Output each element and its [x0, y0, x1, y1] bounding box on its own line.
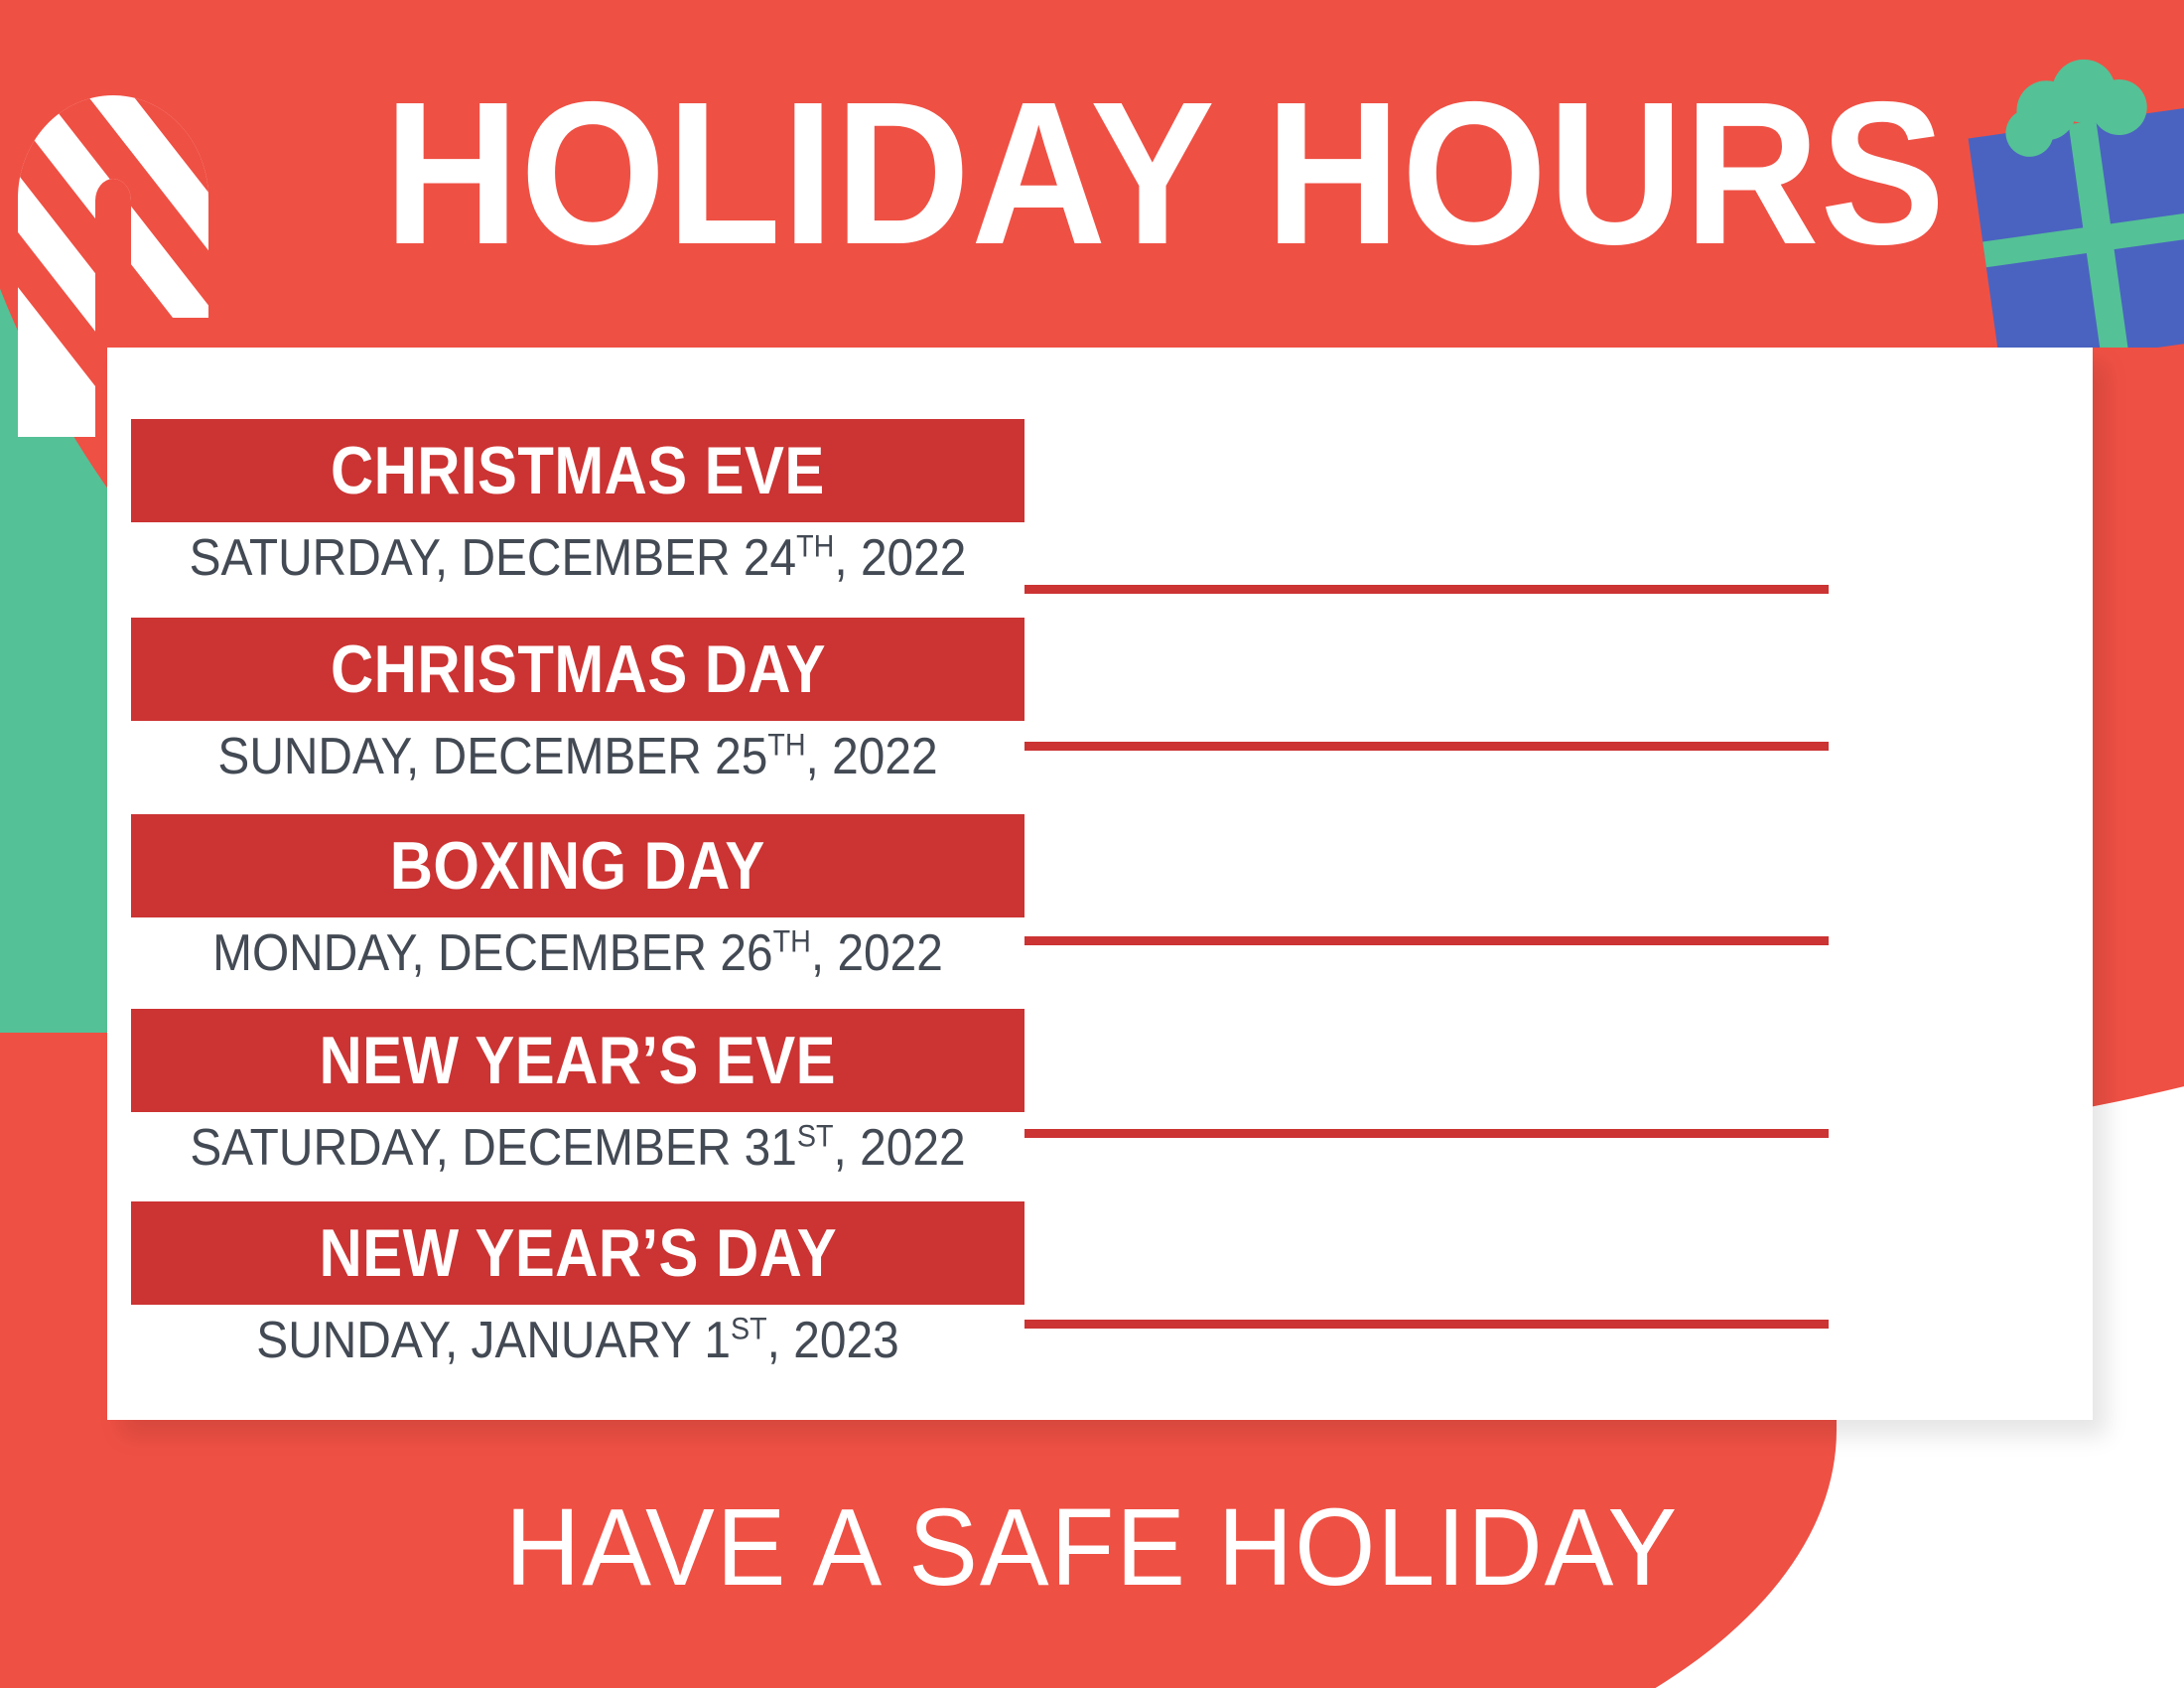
holiday-date-year: 2022	[861, 529, 966, 587]
holiday-date-year: 2023	[793, 1312, 898, 1369]
hours-list: CHRISTMAS EVE SATURDAY, DECEMBER 24TH, 2…	[131, 348, 2093, 1370]
holiday-date-day: 31	[745, 1119, 797, 1177]
page-title: HOLIDAY HOURS	[87, 71, 2097, 275]
holiday-date-weekday: SUNDAY,	[256, 1312, 458, 1369]
list-item: NEW YEAR’S EVE SATURDAY, DECEMBER 31ST, …	[131, 1009, 2093, 1178]
holiday-date-year: 2022	[837, 924, 942, 982]
hours-rule-line	[1024, 742, 1829, 751]
list-item: CHRISTMAS DAY SUNDAY, DECEMBER 25TH, 202…	[131, 618, 2093, 786]
holiday-date-weekday: MONDAY,	[212, 924, 425, 982]
hours-rule-line	[1024, 585, 1829, 594]
holiday-date: MONDAY, DECEMBER 26TH, 2022	[167, 923, 989, 983]
holiday-hours-poster: HOLIDAY HOURS CHRISTMAS EVE SATURDAY, DE…	[0, 0, 2184, 1688]
holiday-date-month: DECEMBER	[438, 924, 707, 982]
hours-rule-line	[1024, 1320, 1829, 1329]
holiday-date-weekday: SUNDAY,	[217, 728, 419, 785]
holiday-label: NEW YEAR’S DAY	[319, 1214, 837, 1292]
holiday-date-month: DECEMBER	[461, 529, 730, 587]
holiday-date-month: DECEMBER	[462, 1119, 731, 1177]
holiday-label-bar: NEW YEAR’S EVE	[131, 1009, 1024, 1112]
holiday-date-day: 26	[720, 924, 772, 982]
holiday-date: SUNDAY, JANUARY 1ST, 2023	[167, 1311, 989, 1370]
holiday-date-day: 24	[744, 529, 796, 587]
holiday-date-ordinal: TH	[767, 728, 805, 763]
list-item: CHRISTMAS EVE SATURDAY, DECEMBER 24TH, 2…	[131, 419, 2093, 588]
holiday-date: SATURDAY, DECEMBER 31ST, 2022	[167, 1118, 989, 1178]
holiday-date: SATURDAY, DECEMBER 24TH, 2022	[167, 528, 989, 588]
holiday-label-bar: CHRISTMAS DAY	[131, 618, 1024, 721]
holiday-date-day: 25	[715, 728, 767, 785]
holiday-date-ordinal: TH	[796, 529, 834, 564]
holiday-date-ordinal: ST	[731, 1312, 767, 1346]
hours-rule-line	[1024, 936, 1829, 945]
list-item: BOXING DAY MONDAY, DECEMBER 26TH, 2022	[131, 814, 2093, 983]
holiday-label: NEW YEAR’S EVE	[320, 1022, 836, 1099]
hours-card: CHRISTMAS EVE SATURDAY, DECEMBER 24TH, 2…	[107, 348, 2093, 1420]
holiday-date-weekday: SATURDAY,	[190, 1119, 449, 1177]
holiday-date-month: JANUARY	[472, 1312, 692, 1369]
holiday-date-weekday: SATURDAY,	[190, 529, 449, 587]
holiday-date-ordinal: ST	[797, 1119, 834, 1154]
holiday-date-year: 2022	[860, 1119, 965, 1177]
holiday-label: BOXING DAY	[390, 827, 765, 905]
holiday-date-year: 2022	[832, 728, 937, 785]
holiday-label: CHRISTMAS EVE	[331, 432, 825, 509]
list-item: NEW YEAR’S DAY SUNDAY, JANUARY 1ST, 2023	[131, 1201, 2093, 1370]
holiday-label-bar: BOXING DAY	[131, 814, 1024, 917]
footer-message: HAVE A SAFE HOLIDAY	[55, 1484, 2129, 1611]
holiday-date-ordinal: TH	[773, 924, 811, 959]
holiday-label-bar: CHRISTMAS EVE	[131, 419, 1024, 522]
holiday-date-day: 1	[704, 1312, 731, 1369]
holiday-label-bar: NEW YEAR’S DAY	[131, 1201, 1024, 1305]
hours-rule-line	[1024, 1129, 1829, 1138]
holiday-label: CHRISTMAS DAY	[331, 631, 826, 708]
holiday-date: SUNDAY, DECEMBER 25TH, 2022	[167, 727, 989, 786]
holiday-date-month: DECEMBER	[433, 728, 702, 785]
